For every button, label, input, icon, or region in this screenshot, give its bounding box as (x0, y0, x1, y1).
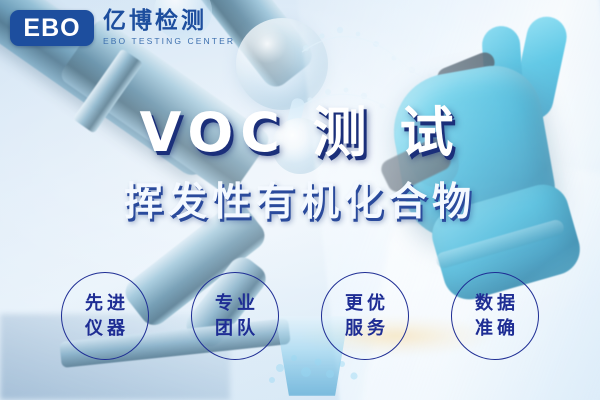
feature-badge-service[interactable]: 更优 服务 (321, 272, 409, 360)
badge-line-2: 服务 (341, 320, 389, 338)
logo-mark-text: EBO (23, 16, 80, 41)
badge-line-2: 仪器 (81, 320, 129, 338)
feature-badge-list: 先进 仪器 专业 团队 更优 服务 数据 准确 (0, 272, 600, 360)
logo-mark: EBO (10, 10, 94, 46)
brand-logo[interactable]: EBO 亿博检测 EBO TESTING CENTER (10, 10, 235, 46)
voc-testing-banner: EBO 亿博检测 EBO TESTING CENTER VOC 测 试 挥发性有… (0, 0, 600, 400)
brand-name-group: 亿博检测 EBO TESTING CENTER (103, 10, 235, 46)
badge-line-2: 准确 (471, 320, 519, 338)
badge-line-1: 先进 (81, 295, 129, 313)
feature-badge-instruments[interactable]: 先进 仪器 (61, 272, 149, 360)
badge-line-1: 更优 (341, 295, 389, 313)
brand-name-en: EBO TESTING CENTER (103, 37, 235, 46)
badge-line-2: 团队 (211, 320, 259, 338)
feature-badge-data[interactable]: 数据 准确 (451, 272, 539, 360)
hero-headline: VOC 测 试 (0, 106, 600, 160)
brand-name-cn: 亿博检测 (103, 10, 235, 33)
badge-line-1: 专业 (211, 295, 259, 313)
badge-line-1: 数据 (471, 295, 519, 313)
hero-subheadline: 挥发性有机化合物 (0, 183, 600, 222)
feature-badge-team[interactable]: 专业 团队 (191, 272, 279, 360)
